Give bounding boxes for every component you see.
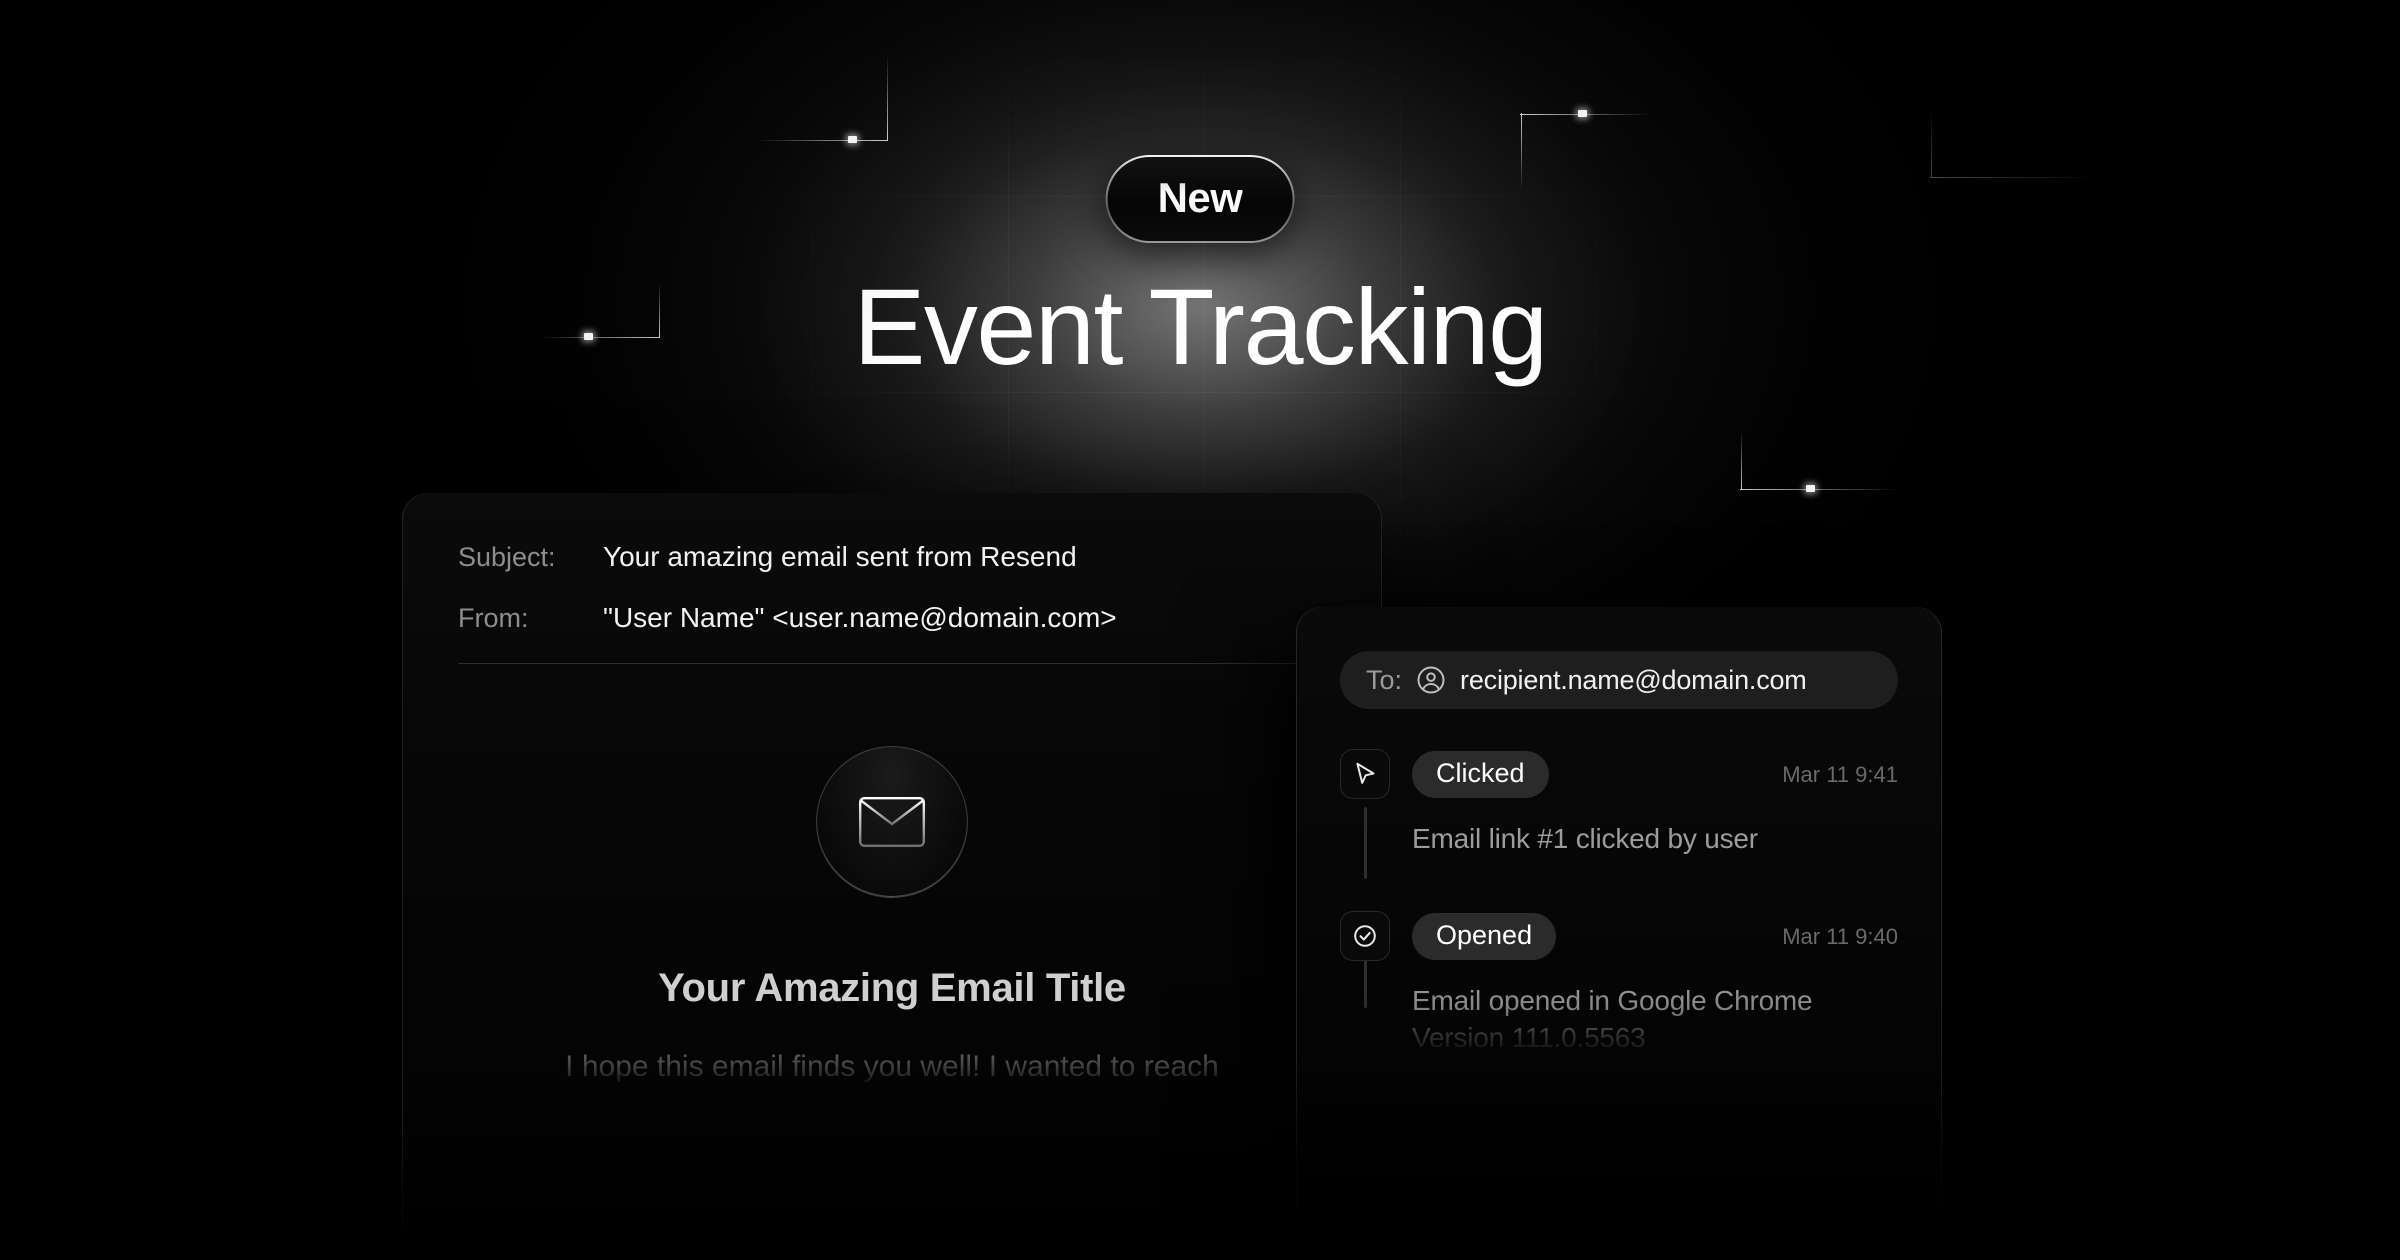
new-badge-label: New <box>1158 177 1243 219</box>
email-body: Your Amazing Email Title I hope this ema… <box>402 664 1382 1089</box>
event-header: Opened Mar 11 9:40 <box>1412 913 1898 960</box>
event-status-badge: Opened <box>1412 913 1556 960</box>
new-badge-inner: New <box>1108 157 1293 241</box>
corner-bracket-far-right <box>1930 108 2100 178</box>
envelope-icon-circle <box>816 746 968 898</box>
bracket-dot <box>1578 110 1587 117</box>
email-meta: Subject: Your amazing email sent from Re… <box>402 493 1382 664</box>
check-circle-icon-box <box>1340 911 1390 961</box>
event-description: Email opened in Google Chrome Version 11… <box>1412 982 1898 1056</box>
corner-bracket-top-right <box>1520 58 1650 148</box>
event-tracking-panel: To: recipient.name@domain.com Click <box>1296 607 1942 1260</box>
recipient-email: recipient.name@domain.com <box>1460 665 1807 696</box>
event-header: Clicked Mar 11 9:41 <box>1412 751 1898 798</box>
event-timestamp: Mar 11 9:41 <box>1782 762 1898 788</box>
email-subject-value: Your amazing email sent from Resend <box>603 541 1077 573</box>
event-timestamp: Mar 11 9:40 <box>1782 924 1898 950</box>
email-body-text: I hope this email finds you well! I want… <box>442 1045 1342 1089</box>
recipient-pill[interactable]: To: recipient.name@domain.com <box>1340 651 1898 709</box>
email-card-bottom-fade <box>402 1110 1382 1260</box>
email-from-label: From: <box>458 603 603 634</box>
bracket-dot <box>1806 485 1815 492</box>
bracket-dot <box>848 136 857 143</box>
event-item-clicked[interactable]: Clicked Mar 11 9:41 Email link #1 clicke… <box>1340 749 1898 857</box>
email-preview-card: Subject: Your amazing email sent from Re… <box>402 493 1382 1260</box>
page-title: Event Tracking <box>0 268 2400 387</box>
email-body-title: Your Amazing Email Title <box>442 966 1342 1011</box>
event-description: Email link #1 clicked by user <box>1412 820 1898 857</box>
recipient-label: To: <box>1366 665 1402 696</box>
event-content: Opened Mar 11 9:40 Email opened in Googl… <box>1412 911 1898 1056</box>
email-subject-label: Subject: <box>458 542 603 573</box>
corner-bracket-top-left <box>758 55 888 141</box>
cursor-arrow-icon <box>1351 760 1379 788</box>
event-item-opened[interactable]: Opened Mar 11 9:40 Email opened in Googl… <box>1340 911 1898 1056</box>
check-circle-icon <box>1351 922 1379 950</box>
event-content: Clicked Mar 11 9:41 Email link #1 clicke… <box>1412 749 1898 857</box>
email-from-row: From: "User Name" <user.name@domain.com> <box>458 602 1326 634</box>
envelope-icon <box>859 797 925 847</box>
email-subject-row: Subject: Your amazing email sent from Re… <box>458 541 1326 573</box>
new-badge: New <box>1106 155 1295 243</box>
event-status-badge: Clicked <box>1412 751 1549 798</box>
corner-bracket-right <box>1740 430 1900 490</box>
cursor-arrow-icon-box <box>1340 749 1390 799</box>
user-circle-icon <box>1416 665 1446 695</box>
event-list: Clicked Mar 11 9:41 Email link #1 clicke… <box>1296 749 1942 1057</box>
hero-section: New Event Tracking Subject: Your amazing… <box>0 0 2400 1260</box>
panel-bottom-fade <box>1296 1050 1942 1260</box>
email-from-value: "User Name" <user.name@domain.com> <box>603 602 1117 634</box>
